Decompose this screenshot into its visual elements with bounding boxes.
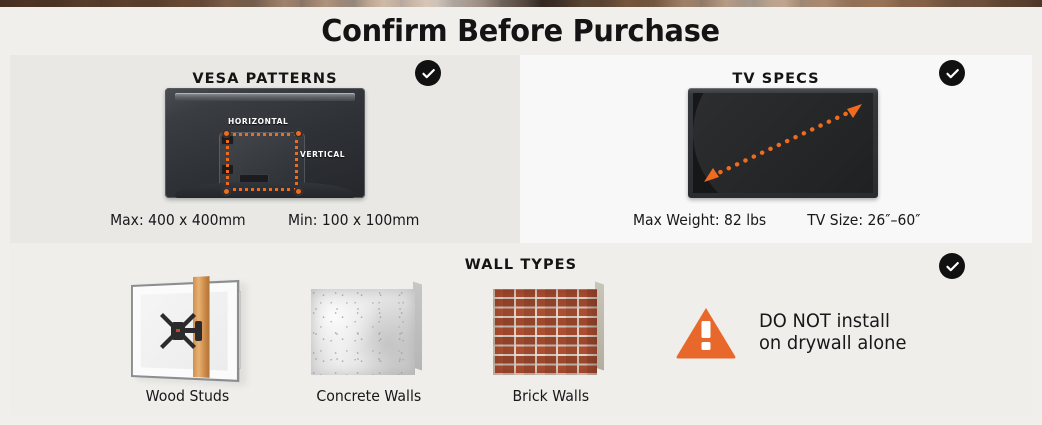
- vesa-hole-marker: [222, 187, 231, 196]
- vesa-hole-marker: [222, 129, 231, 138]
- panel-vesa-patterns: VESA PATTERNS HORIZONTAL VERTICAL Max: 4…: [10, 55, 520, 243]
- wall-type-label: Brick Walls: [513, 387, 590, 405]
- wall-type-label: Wood Studs: [145, 387, 229, 405]
- vesa-label-vertical: VERTICAL: [300, 150, 345, 159]
- wall-type-list: Wood Studs Concrete Walls Brick Walls: [120, 281, 620, 406]
- vesa-spec-max: Max: 400 x 400mm: [111, 211, 247, 229]
- vesa-hole-marker: [294, 187, 303, 196]
- top-texture-strip: [0, 0, 1042, 7]
- concrete-front-face: [311, 289, 415, 375]
- headline-band: Confirm Before Purchase: [0, 7, 1042, 55]
- warning-triangle-icon: [675, 305, 737, 360]
- drywall-warning-line1: DO NOT install: [759, 311, 906, 333]
- tv-top-vent: [175, 93, 355, 101]
- panel-title-vesa: VESA PATTERNS: [10, 71, 520, 87]
- vesa-tv-graphic: HORIZONTAL VERTICAL: [165, 88, 365, 198]
- vesa-dotted-rectangle: [226, 133, 298, 191]
- tv-spec-size: TV Size: 26″–60″: [807, 211, 920, 229]
- vesa-label-horizontal: HORIZONTAL: [228, 117, 288, 126]
- tv-mount-bracket-icon: [157, 307, 213, 355]
- tv-spec-line: Max Weight: 82 lbs TV Size: 26″–60″: [520, 211, 1032, 229]
- drywall-warning-line2: on drywall alone: [759, 333, 906, 355]
- tv-screen: [693, 93, 873, 193]
- vesa-spec-min: Min: 100 x 100mm: [288, 211, 419, 229]
- brick-front-face: [493, 289, 597, 375]
- wall-type-item-brick-walls: Brick Walls: [484, 281, 618, 406]
- brick-wall-icon: [491, 281, 611, 381]
- infographic-root: Confirm Before Purchase VESA PATTERNS HO…: [0, 0, 1042, 425]
- check-circle-icon-wall-types: [939, 253, 965, 279]
- section-wall-types: WALL TYPES: [10, 243, 1032, 415]
- drywall-warning: DO NOT install on drywall alone: [675, 305, 916, 360]
- wood-studs-icon: [127, 281, 247, 381]
- page-title: Confirm Before Purchase: [322, 14, 721, 49]
- section-title-wall-types: WALL TYPES: [10, 257, 1032, 273]
- check-circle-icon-tv-specs: [939, 60, 965, 86]
- drywall-warning-text: DO NOT install on drywall alone: [759, 311, 916, 355]
- wall-type-item-wood-studs: Wood Studs: [120, 281, 254, 406]
- wall-type-label: Concrete Walls: [317, 387, 422, 405]
- concrete-wall-icon: [309, 281, 429, 381]
- wall-type-item-concrete-walls: Concrete Walls: [302, 281, 436, 406]
- tv-screen-graphic: [688, 88, 878, 198]
- vesa-spec-line: Max: 400 x 400mm Min: 100 x 100mm: [10, 211, 520, 229]
- vesa-hole-marker: [294, 129, 303, 138]
- tv-spec-weight: Max Weight: 82 lbs: [633, 211, 766, 229]
- check-circle-icon-vesa: [415, 60, 441, 86]
